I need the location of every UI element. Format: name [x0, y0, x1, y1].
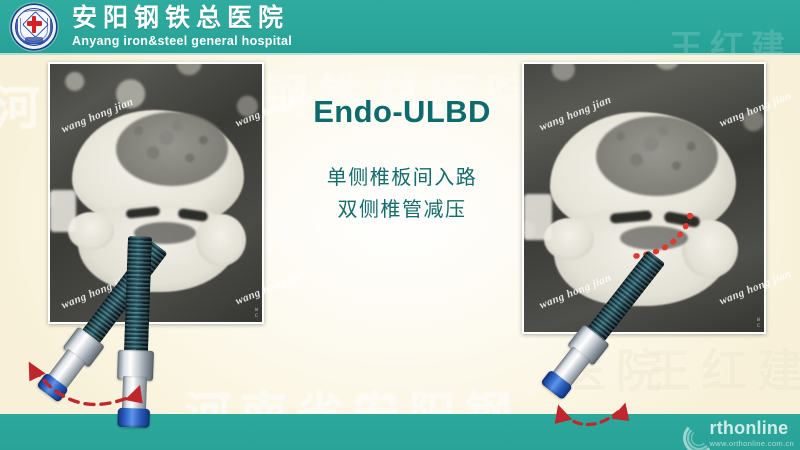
center-text-block: Endo-ULBD 单侧椎板间入路 双侧椎管减压 [282, 95, 522, 226]
page-title: Endo-ULBD [282, 95, 522, 129]
instrument-blue-cap [117, 408, 150, 428]
slide-header: 王红建 安阳钢铁总医院 Anyang iron&steel general ho… [0, 0, 800, 53]
subtitle-line-1: 单侧椎板间入路 [282, 161, 522, 193]
o-swirl-icon [683, 422, 709, 448]
orthonline-logo[interactable]: rthonline www.orthonline.com.cn [683, 416, 794, 448]
header-watermark: 王红建 [669, 20, 792, 53]
orthonline-url: www.orthonline.com.cn [710, 439, 794, 448]
orthonline-brand: rthonline [710, 419, 789, 437]
hospital-name-cn: 安阳钢铁总医院 [72, 5, 292, 32]
instrument-collar-barrel [122, 376, 147, 411]
header-divider [0, 53, 800, 55]
ct-right-corner-label: WC [757, 318, 760, 329]
ct-image-left: WC [48, 62, 264, 324]
subtitle-line-2: 双侧椎管减压 [282, 193, 522, 225]
hospital-emblem-icon [12, 5, 56, 49]
ct-image-right: WC [522, 62, 766, 334]
ct-left-corner-label: WC [255, 308, 258, 319]
instrument-shaft [124, 236, 152, 355]
presentation-slide: 河南省 安阳钢铁总医院 王红建 安阳钢铁总医院 医院 河南省安阳钢 医院 王红建… [0, 0, 800, 450]
hospital-name-en: Anyang iron&steel general hospital [72, 34, 292, 48]
